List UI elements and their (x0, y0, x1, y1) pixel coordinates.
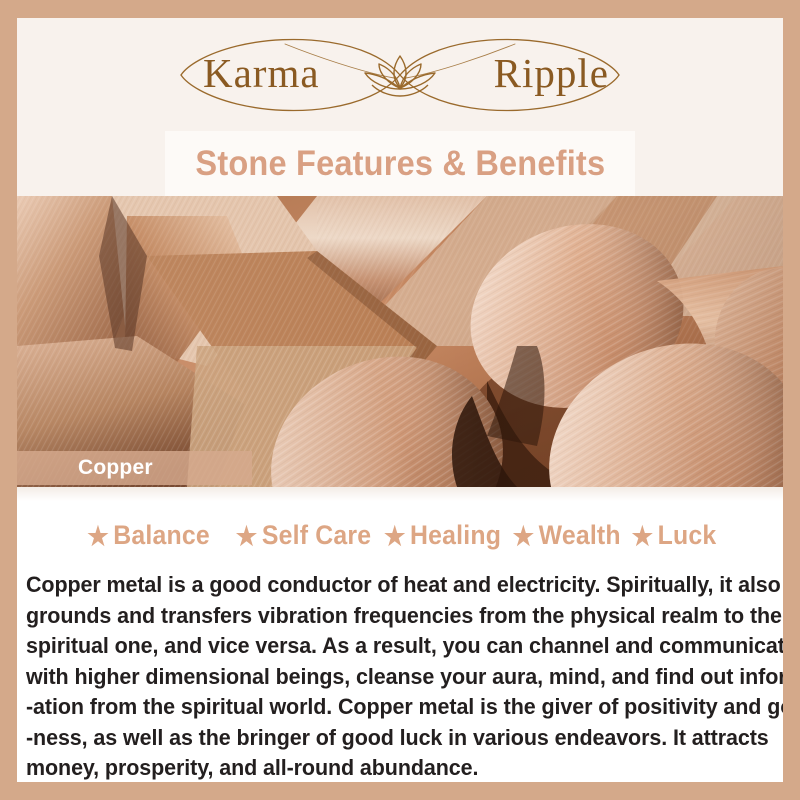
feature-item-balance: ★ Balance (86, 520, 210, 551)
page-title: Stone Features & Benefits (195, 144, 605, 184)
feature-label: Self Care (261, 520, 370, 551)
feature-item-wealth: ★ Wealth (511, 520, 621, 551)
copper-bars-image (17, 196, 783, 487)
feature-label: Healing (410, 520, 501, 551)
feature-label: Balance (114, 520, 211, 551)
description-line: grounds and transfers vibration frequenc… (26, 601, 744, 632)
star-icon: ★ (513, 523, 534, 549)
feature-list: ★ Balance ★ Self Care ★ Healing ★ Wealth… (17, 520, 783, 551)
product-photo: Copper (17, 196, 783, 487)
brand-logo: Karma Ripple (165, 26, 635, 124)
infographic-card: Karma Ripple Stone Features & Benefits (17, 18, 783, 782)
photo-caption-bar: Copper (17, 451, 252, 485)
description-line: spiritual one, and vice versa. As a resu… (26, 631, 744, 662)
star-icon: ★ (631, 523, 652, 549)
feature-label: Wealth (539, 520, 621, 551)
description-line: Copper metal is a good conductor of heat… (26, 570, 744, 601)
description-line: with higher dimensional beings, cleanse … (26, 662, 744, 693)
content-area: ★ Balance ★ Self Care ★ Healing ★ Wealth… (17, 487, 783, 782)
star-icon: ★ (384, 523, 405, 549)
infographic-canvas: Karma Ripple Stone Features & Benefits (0, 0, 800, 800)
title-band: Stone Features & Benefits (165, 131, 635, 196)
star-icon: ★ (235, 523, 256, 549)
description-paragraph: Copper metal is a good conductor of heat… (26, 570, 778, 782)
star-icon: ★ (88, 523, 109, 549)
description-line: -ation from the spiritual world. Copper … (26, 692, 744, 723)
brand-name-first: Karma (203, 49, 320, 97)
description-line: money, prosperity, and all-round abundan… (26, 753, 744, 782)
description-line: -ness, as well as the bringer of good lu… (26, 723, 744, 754)
feature-item-healing: ★ Healing (382, 520, 501, 551)
brand-header: Karma Ripple (17, 18, 783, 131)
feature-label: Luck (657, 520, 716, 551)
feature-item-luck: ★ Luck (629, 520, 716, 551)
photo-caption-label: Copper (78, 456, 153, 480)
feature-item-self-care: ★ Self Care (234, 520, 371, 551)
brand-name-second: Ripple (494, 49, 609, 97)
